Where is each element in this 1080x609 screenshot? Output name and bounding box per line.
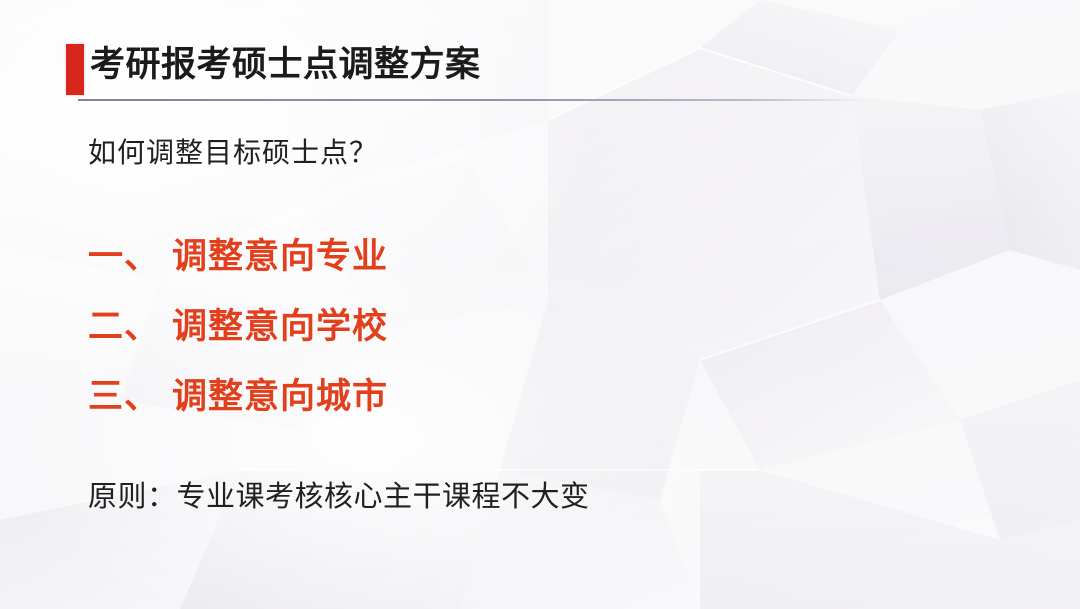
list-item: 二、 调整意向学校 [88,298,688,368]
slide-canvas: 考研报考硕士点调整方案 如何调整目标硕士点？ 一、 调整意向专业 二、 调整意向… [0,0,1080,609]
list-item: 一、 调整意向专业 [88,228,688,298]
title-divider [78,99,868,101]
principle-note: 原则：专业课考核核心主干课程不大变 [88,473,590,515]
list-item-index: 一、 [88,228,172,279]
list-item-index: 三、 [88,368,172,419]
slide-subtitle: 如何调整目标硕士点？ [88,131,378,171]
list-item-index: 二、 [88,298,172,349]
slide-header: 考研报考硕士点调整方案 [0,0,1080,110]
list-item-label: 调整意向城市 [172,368,388,419]
title-accent-bar [66,44,84,95]
page-title: 考研报考硕士点调整方案 [90,42,481,88]
list-item: 三、 调整意向城市 [88,368,688,438]
list-item-label: 调整意向专业 [172,228,388,279]
list-item-label: 调整意向学校 [172,298,388,349]
adjustment-options-list: 一、 调整意向专业 二、 调整意向学校 三、 调整意向城市 [88,228,688,438]
slide-content: 考研报考硕士点调整方案 如何调整目标硕士点？ 一、 调整意向专业 二、 调整意向… [0,0,1080,609]
